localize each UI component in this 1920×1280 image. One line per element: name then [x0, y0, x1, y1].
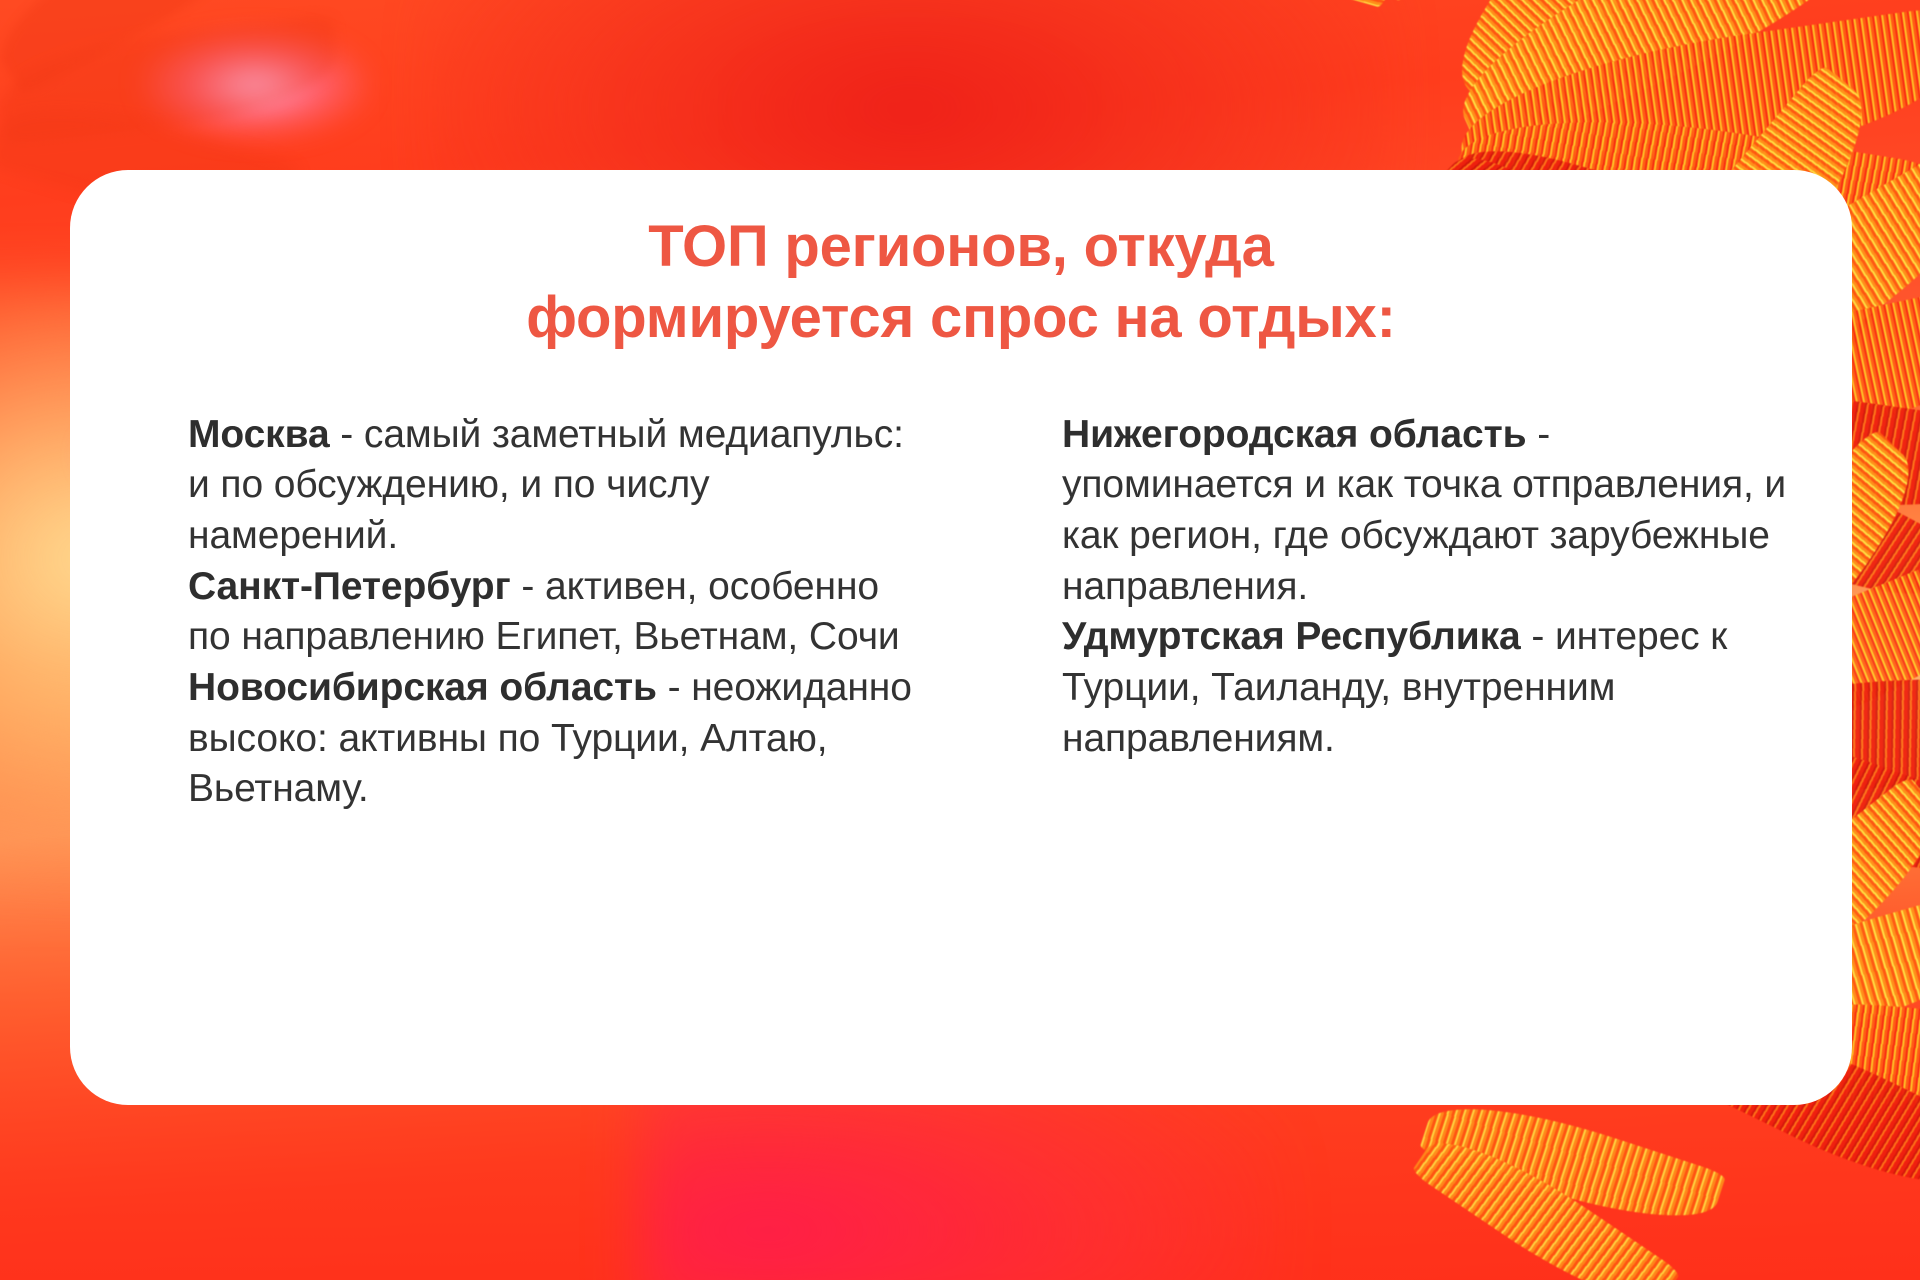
region-name: Санкт-Петербург [188, 565, 511, 608]
region-name: Удмуртская Республика [1062, 615, 1521, 658]
region-column-left: Москва - самый заметный медиапульс: и по… [188, 410, 930, 816]
region-columns: Москва - самый заметный медиапульс: и по… [70, 354, 1852, 816]
page-title-line-2: формируется спрос на отдых: [190, 283, 1732, 354]
region-item: Москва - самый заметный медиапульс: и по… [188, 410, 930, 562]
region-column-right: Нижегородская область - упоминается и ка… [1062, 410, 1792, 816]
poster-root: ТОП регионов, откуда формируется спрос н… [0, 0, 1920, 1280]
content-card: ТОП регионов, откуда формируется спрос н… [70, 170, 1852, 1105]
region-item: Удмуртская Республика - интерес к Турции… [1062, 612, 1792, 764]
region-item: Нижегородская область - упоминается и ка… [1062, 410, 1792, 613]
region-item: Санкт-Петербург - активен, особенно по н… [188, 562, 930, 663]
region-name: Нижегородская область [1062, 413, 1526, 456]
page-title: ТОП регионов, откуда формируется спрос н… [70, 170, 1852, 354]
region-item: Новосибирская область - неожиданно высок… [188, 663, 930, 815]
region-name: Москва [188, 413, 330, 456]
page-title-line-1: ТОП регионов, откуда [190, 212, 1732, 283]
region-name: Новосибирская область [188, 666, 657, 709]
